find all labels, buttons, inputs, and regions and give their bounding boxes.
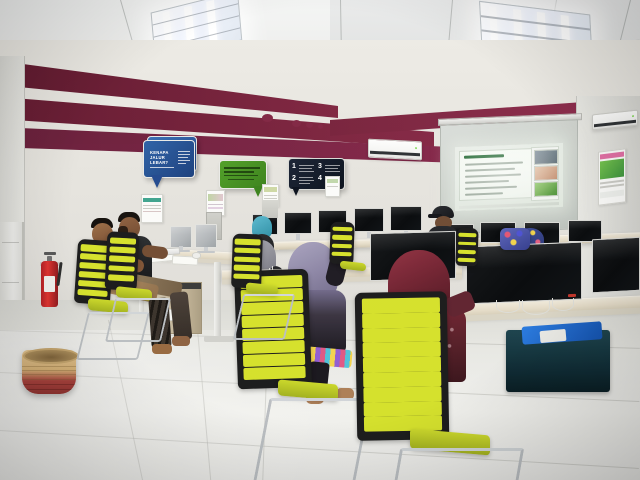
extinguisher-label	[44, 276, 55, 292]
cable	[496, 300, 520, 313]
foot	[152, 344, 172, 354]
paper-in-bag	[540, 329, 567, 343]
cable	[552, 298, 574, 311]
extinguisher-handle[interactable]	[44, 252, 56, 255]
projection-glow	[455, 143, 563, 211]
mouse[interactable]	[192, 252, 201, 259]
sign-number-3: 3	[318, 163, 322, 170]
classroom-photo: KENAPA JALUR LEBAR? 1 2 3 4	[0, 0, 640, 480]
sign-number-2: 2	[292, 175, 296, 182]
desk-foot	[204, 336, 234, 342]
monitor-silver[interactable]	[195, 224, 217, 248]
bag-patterned[interactable]	[500, 228, 530, 250]
sign-blue-bubble: KENAPA JALUR LEBAR?	[143, 140, 195, 178]
foot	[172, 336, 190, 346]
sign-number-4: 4	[318, 175, 322, 182]
wall-dot	[262, 114, 273, 122]
poster-left	[141, 194, 163, 223]
projected-image	[455, 143, 563, 211]
sign-blue-title: KENAPA JALUR LEBAR?	[150, 150, 176, 165]
sign-numbered-panel-tail	[292, 187, 300, 196]
sign-green-bubble	[219, 160, 267, 189]
monitor-large[interactable]	[592, 237, 640, 294]
monitor-large[interactable]	[466, 242, 582, 305]
wall-dot	[292, 120, 301, 127]
poster-right	[325, 176, 340, 197]
poster-corner	[598, 148, 626, 205]
wall-dot	[306, 122, 313, 128]
basket-rim	[23, 348, 79, 364]
projection-screen	[440, 119, 578, 235]
monitor[interactable]	[354, 208, 384, 232]
monitor[interactable]	[390, 206, 422, 231]
ac-unit-left	[368, 139, 422, 161]
wall-dot	[318, 124, 323, 129]
sign-blue-bubble-tail	[151, 175, 163, 188]
cable	[522, 300, 550, 315]
monitor-silver[interactable]	[170, 226, 192, 248]
monitor[interactable]	[284, 212, 312, 234]
desk-leg	[214, 262, 221, 340]
sign-number-1: 1	[292, 163, 296, 170]
